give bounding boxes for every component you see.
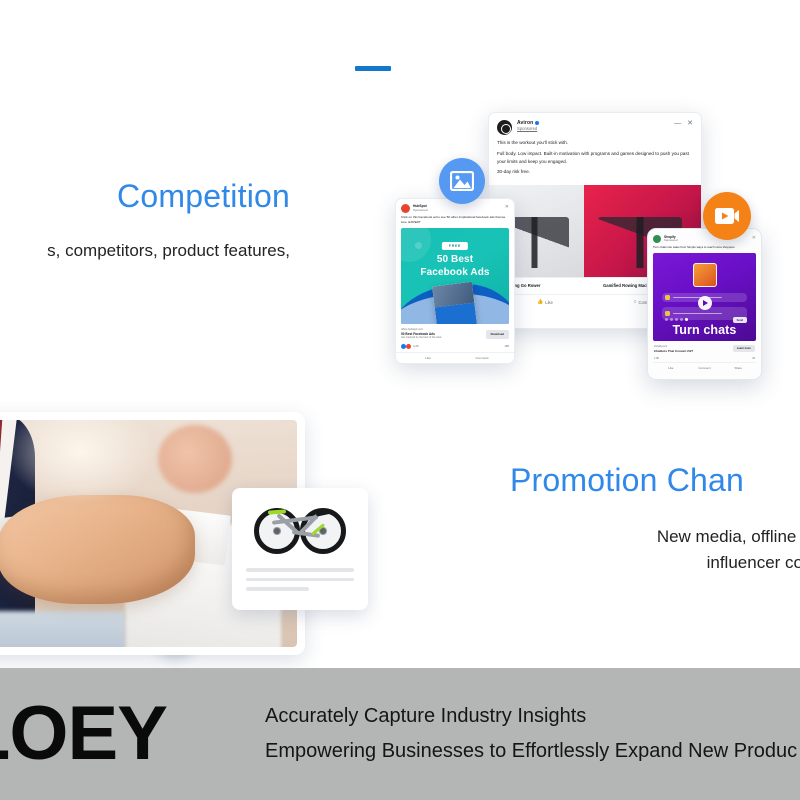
ads-reaction-bar: 4.2K 186 xyxy=(396,342,514,353)
ads-hero-title-line-1: 50 Best xyxy=(437,254,473,265)
fb-post-sponsored-label: Sponsored xyxy=(517,126,674,132)
ads-post-link-preview[interactable]: offers.hubspot.com 50 Best Facebook Ads … xyxy=(396,324,514,342)
promotion-subtitle: New media, offline ad influencer colla xyxy=(510,524,800,577)
tablet-reaction-count: 1.8K xyxy=(654,357,659,361)
competition-text-block: Competition s, competitors, product feat… xyxy=(0,178,290,264)
ads-cta-button[interactable]: Download xyxy=(486,330,509,339)
promotion-title: Promotion Chan xyxy=(510,462,800,500)
photo-person-face xyxy=(158,425,232,493)
competition-title: Competition xyxy=(0,178,290,216)
progress-dot xyxy=(675,318,678,321)
fb-like-label: Like xyxy=(545,300,553,305)
ads-post-body: Click on this Facebook ad to see 50 othe… xyxy=(396,215,514,228)
ads-hero-creative: FREE 50 Best Facebook Ads xyxy=(401,228,509,324)
brand-avatar-icon xyxy=(497,120,512,135)
chat-text-placeholder xyxy=(673,313,722,315)
promotion-text-block: Promotion Chan New media, offline ad inf… xyxy=(510,462,800,576)
placeholder-line xyxy=(246,578,354,582)
ads-hero-title: 50 Best Facebook Ads xyxy=(401,254,509,279)
photo-handshake-hands xyxy=(0,495,195,604)
ads-action-bar: Like Comment xyxy=(396,353,514,364)
ebook-cover-body xyxy=(435,303,478,324)
promotion-subtitle-line-1: New media, offline ad xyxy=(657,527,800,546)
footer-tagline-line-2: Empowering Businesses to Effortlessly Ex… xyxy=(265,734,797,769)
fb-post-window-controls: — ✕ xyxy=(674,120,693,127)
ads-post-identity: HubSpot Sponsored xyxy=(413,204,505,212)
progress-dot xyxy=(665,318,668,321)
close-icon[interactable]: ✕ xyxy=(752,235,756,241)
wheel-hub xyxy=(274,528,280,534)
video-icon-badge xyxy=(703,192,751,240)
ads-link-subtitle: Get inspired by the best of the best. xyxy=(401,336,483,340)
fb-post-header: Aviron Sponsored — ✕ xyxy=(489,113,701,138)
tablet-link-text: shopify.com Chatbots That Convert 24/7 xyxy=(654,345,730,353)
ads-reaction-count: 4.2K xyxy=(413,344,419,348)
image-icon-badge xyxy=(439,158,485,204)
minimize-icon[interactable]: — xyxy=(674,120,681,127)
tablet-ad-post-mockup: Shopify Sponsored ✕ Turn chats into sale… xyxy=(647,228,762,380)
fb-post-body-line-2: Full body. Low impact. Built-in motivati… xyxy=(497,150,693,166)
hubspot-ad-post-mockup: HubSpot Sponsored ✕ Click on this Facebo… xyxy=(395,198,515,364)
tablet-reaction-bar: 1.8K 94 xyxy=(653,355,756,364)
ebook-mockup-icon xyxy=(432,282,478,324)
photo-light-glow xyxy=(3,420,158,506)
tablet-hero-creative: Send Turn chats xyxy=(653,253,756,341)
brand-avatar-icon xyxy=(653,235,661,243)
ads-comment-count: 186 xyxy=(504,344,509,348)
progress-dot xyxy=(680,318,683,321)
top-accent-bar xyxy=(355,66,391,71)
photo-desk-blur xyxy=(0,611,125,647)
verified-badge-icon xyxy=(535,121,539,125)
footer-tagline: Accurately Capture Industry Insights Emp… xyxy=(265,699,797,769)
tablet-like-button[interactable]: Like xyxy=(654,366,688,370)
fb-post-identity: Aviron Sponsored xyxy=(517,120,674,133)
chat-text-placeholder xyxy=(673,297,722,299)
comment-icon: ○ xyxy=(633,299,636,305)
brand-logo: LOEY xyxy=(0,696,167,772)
progress-dot-active xyxy=(685,318,688,321)
ads-like-button[interactable]: Like xyxy=(401,356,455,360)
tablet-post-body: Turn chats into sales from Simple ways t… xyxy=(653,245,756,250)
chat-thumbnail-image xyxy=(693,263,717,287)
tablet-comment-count: 94 xyxy=(752,357,755,361)
ads-reaction-icons: 4.2K xyxy=(401,344,419,349)
tablet-link-title: Chatbots That Convert 24/7 xyxy=(654,349,730,353)
footer-tagline-line-1: Accurately Capture Industry Insights xyxy=(265,699,797,734)
ads-hero-title-line-2: Facebook Ads xyxy=(420,267,489,278)
bicycle-image xyxy=(252,502,348,558)
fb-post-body-line-1: This is the workout you'll stick with. xyxy=(497,139,693,147)
bicycle-product-card xyxy=(232,488,368,610)
footer-bar: LOEY Accurately Capture Industry Insight… xyxy=(0,668,800,800)
placeholder-line xyxy=(246,587,309,591)
progress-dot xyxy=(670,318,673,321)
tablet-post-sponsored-label: Sponsored xyxy=(664,239,752,243)
close-icon[interactable]: ✕ xyxy=(505,204,509,210)
thumbs-up-icon: 👍 xyxy=(537,299,543,305)
tablet-comment-button[interactable]: Comment xyxy=(688,366,722,370)
love-reaction-icon xyxy=(406,344,411,349)
tablet-action-bar: Like Comment Share xyxy=(653,363,756,370)
video-play-icon xyxy=(714,206,740,226)
competition-subtitle: s, competitors, product features, xyxy=(0,238,290,264)
tablet-link-preview[interactable]: shopify.com Chatbots That Convert 24/7 L… xyxy=(653,341,756,355)
promotion-subtitle-line-2: influencer colla xyxy=(707,553,800,572)
close-icon[interactable]: ✕ xyxy=(687,120,693,127)
video-play-icon[interactable] xyxy=(698,296,712,310)
fb-post-body: This is the workout you'll stick with. F… xyxy=(489,138,701,183)
chat-emoji-icon xyxy=(665,311,670,316)
ads-post-sponsored-label: Sponsored xyxy=(413,208,505,212)
progress-dots xyxy=(665,318,688,321)
tablet-hero-title: Turn chats xyxy=(653,323,756,337)
tablet-share-button[interactable]: Share xyxy=(721,366,755,370)
fb-post-body-line-3: 30-day risk free. xyxy=(497,168,693,176)
tablet-cta-button[interactable]: Learn more xyxy=(733,345,755,352)
ads-comment-button[interactable]: Comment xyxy=(455,356,509,360)
ad-mockup-cluster: Aviron Sponsored — ✕ This is the workout… xyxy=(385,100,785,390)
chat-emoji-icon xyxy=(665,295,670,300)
free-badge: FREE xyxy=(442,242,468,250)
placeholder-line xyxy=(246,568,354,572)
bicycle-card-text-placeholders xyxy=(246,568,354,591)
image-icon xyxy=(450,171,474,191)
ads-link-text: offers.hubspot.com 50 Best Facebook Ads … xyxy=(401,328,483,340)
brand-avatar-icon xyxy=(401,204,410,213)
tablet-post-header: Shopify Sponsored ✕ xyxy=(653,235,756,243)
